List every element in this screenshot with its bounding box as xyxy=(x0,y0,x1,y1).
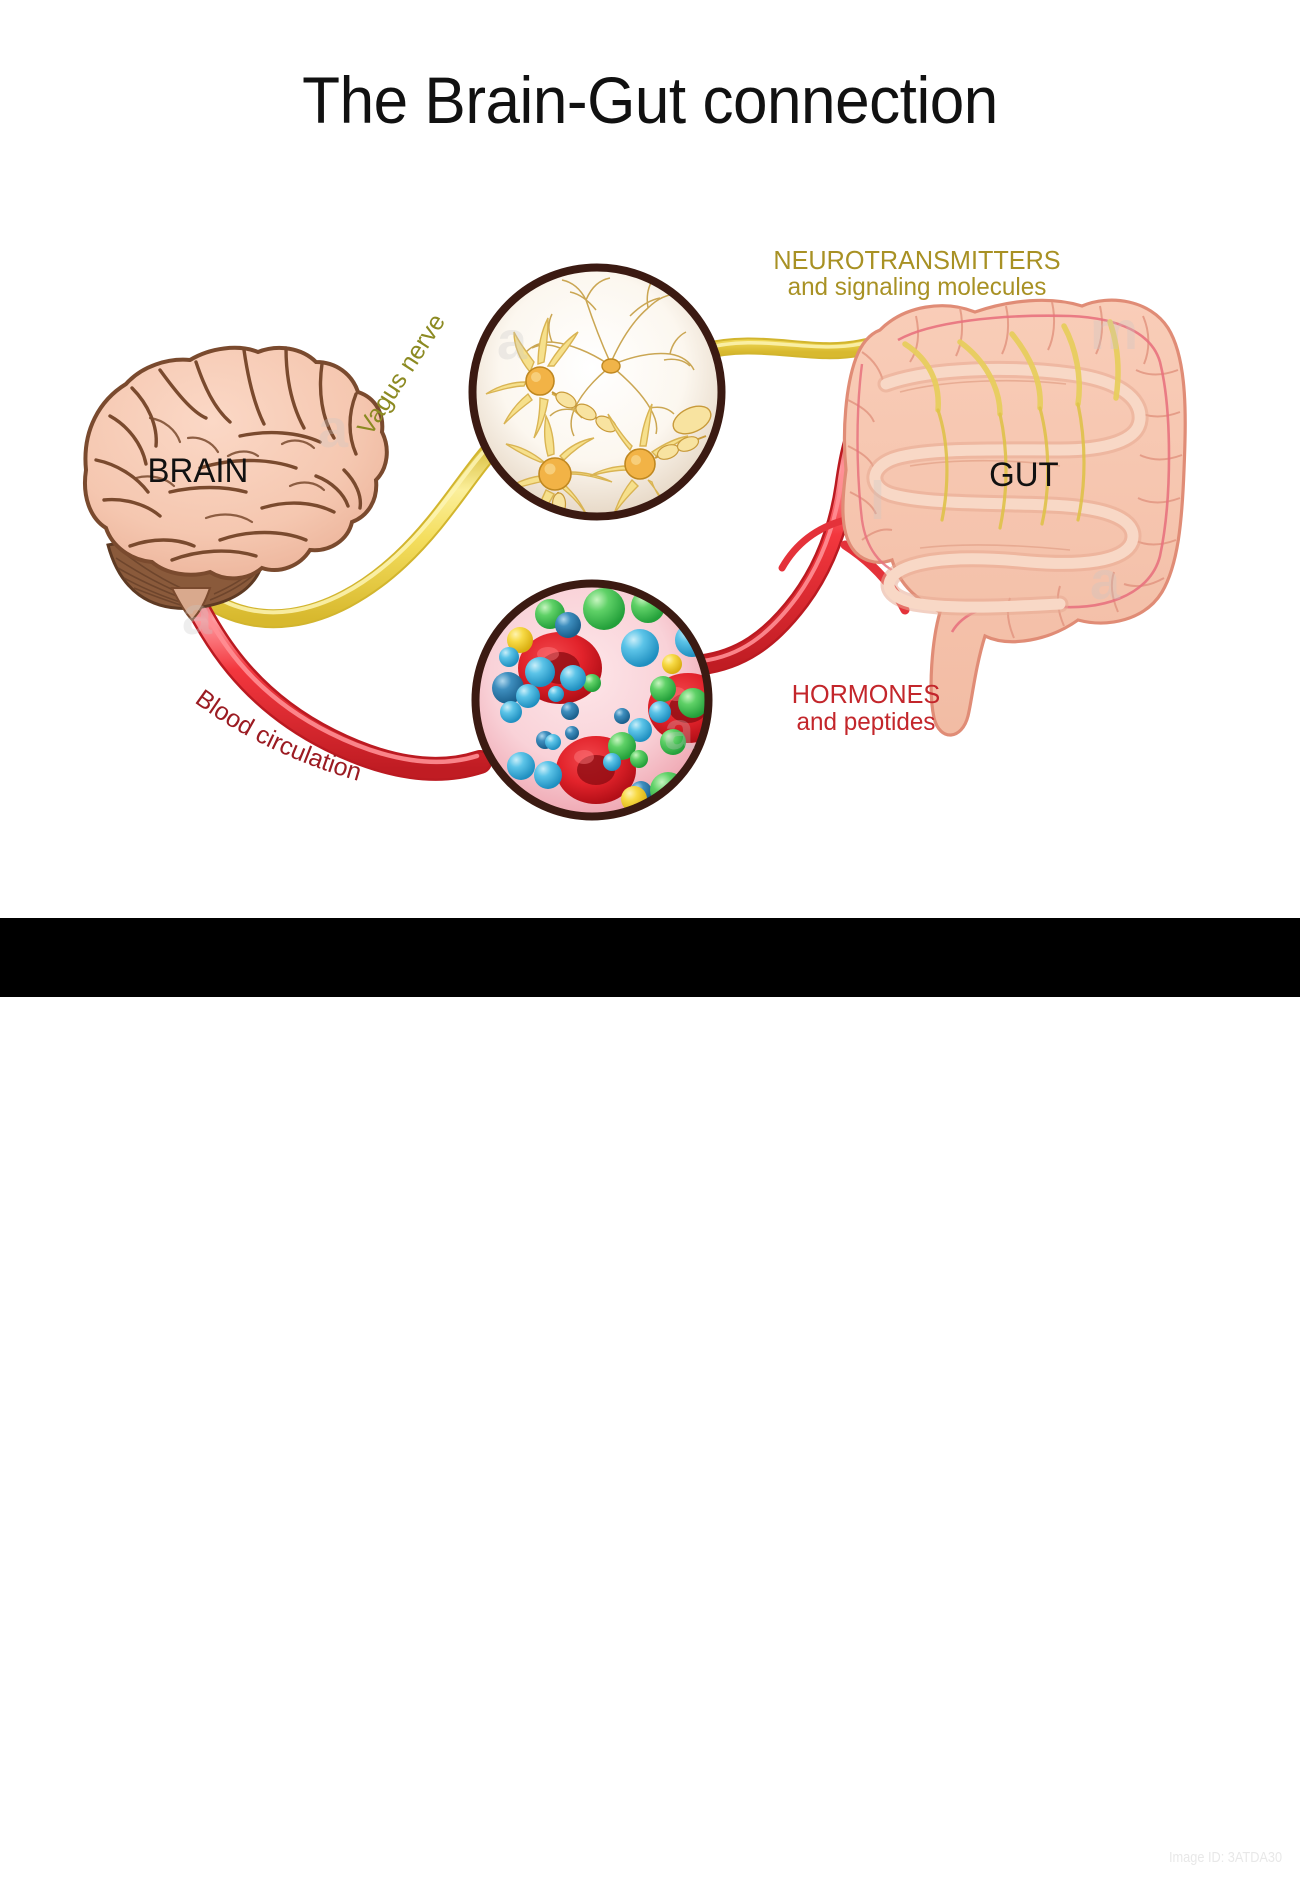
hormones-label: HORMONES and peptides xyxy=(771,680,961,736)
neuron-inset-circle xyxy=(469,264,725,555)
blood-circulation-label-text: Blood circulation xyxy=(190,684,364,787)
neurotransmitters-label: NEUROTRANSMITTERS and signaling molecule… xyxy=(771,246,1064,301)
brain-gut-diagram xyxy=(0,0,1300,997)
illustration-canvas: The Brain-Gut connection BRAIN GUT NEURO… xyxy=(0,0,1300,997)
blood-circulation-label: Blood circulation xyxy=(186,690,446,800)
brain-label: BRAIN xyxy=(148,452,249,491)
alamy-logo: alamy xyxy=(48,1847,134,1897)
neurotransmitters-label-line1: NEUROTRANSMITTERS xyxy=(771,246,1064,274)
alamy-url-text[interactable]: www.alamy.com xyxy=(1171,1876,1282,1896)
gut-label: GUT xyxy=(989,456,1059,495)
blood-inset-circle xyxy=(472,580,728,820)
gut-illustration xyxy=(843,300,1185,735)
image-id-text: Image ID: 3ATDA30 xyxy=(1169,1849,1282,1866)
hormones-label-line2: and peptides xyxy=(771,709,961,737)
hormones-label-line1: HORMONES xyxy=(771,680,961,709)
page-title: The Brain-Gut connection xyxy=(39,62,1261,138)
footer-bar: alamy Image ID: 3ATDA30 www.alamy.com xyxy=(0,918,1300,997)
neurotransmitters-label-line2: and signaling molecules xyxy=(771,274,1064,301)
